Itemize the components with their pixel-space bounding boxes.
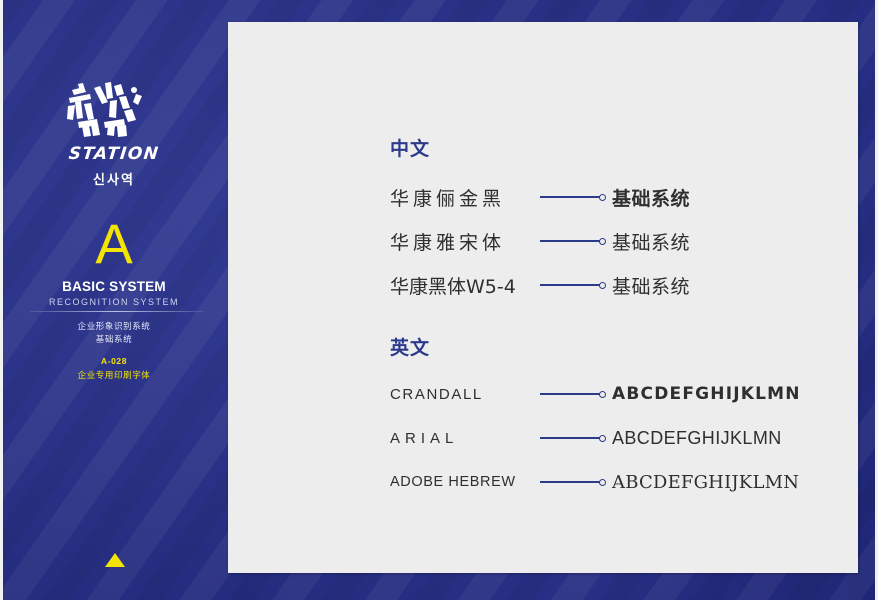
font-name-label: 华康俪金黑 <box>390 184 538 211</box>
line-with-circle-endpoint-icon <box>540 282 606 289</box>
brand-logo-block: STATION 신사역 <box>0 78 228 188</box>
line-with-circle-endpoint-icon <box>540 435 606 442</box>
connector-line <box>540 284 600 286</box>
font-specimen-list: 中文 华康俪金黑 基础系统 华康雅宋体 基础系统 华康黑体W5-4 <box>390 134 850 504</box>
line-with-circle-endpoint-icon <box>540 479 606 486</box>
content-panel: 中文 华康俪金黑 基础系统 华康雅宋体 基础系统 华康黑体W5-4 <box>228 22 858 573</box>
line-with-circle-endpoint-icon <box>540 391 606 398</box>
font-name-label: 华康雅宋体 <box>390 228 538 255</box>
connector-line <box>540 481 600 483</box>
font-sample-text: 基础系统 <box>612 184 850 211</box>
font-row: CRANDALL ABCDEFGHIJKLMN <box>390 372 850 416</box>
font-name-label: ADOBE HEBREW <box>390 474 538 490</box>
page-edge-left <box>0 0 3 600</box>
font-name-label: ARIAL <box>390 430 538 447</box>
logo-korean-text: 신사역 <box>0 169 228 188</box>
connector-line <box>540 437 600 439</box>
triangle-up-icon <box>105 553 125 567</box>
connector-line <box>540 196 600 198</box>
font-row: ADOBE HEBREW ABCDEFGHIJKLMN <box>390 460 850 504</box>
sidebar: STATION 신사역 A BASIC SYSTEM RECOGNITION S… <box>0 0 228 600</box>
section-letter: A <box>0 216 228 272</box>
section-subtitle: RECOGNITION SYSTEM <box>0 297 228 307</box>
font-sample-text: ABCDEFGHIJKLMN <box>612 428 850 449</box>
line-with-circle-endpoint-icon <box>540 194 606 201</box>
sidebar-chinese-line-2: 基础系统 <box>0 333 228 345</box>
sinsa-station-calligraphy-logo-icon <box>64 78 164 140</box>
sidebar-page-code-caption: 企业专用印刷字体 <box>0 369 228 381</box>
section-heading-english: 英文 <box>390 333 850 360</box>
section-title: BASIC SYSTEM <box>0 279 228 294</box>
font-sample-text: ABCDEFGHIJKLMN <box>612 384 850 404</box>
font-sample-text: ABCDEFGHIJKLMN <box>612 472 850 493</box>
font-row: ARIAL ABCDEFGHIJKLMN <box>390 416 850 460</box>
font-sample-text: 基础系统 <box>612 272 850 299</box>
poster-page: STATION 신사역 A BASIC SYSTEM RECOGNITION S… <box>0 0 878 600</box>
connector-dot <box>599 238 606 245</box>
connector-dot <box>599 282 606 289</box>
font-name-label: CRANDALL <box>390 386 538 403</box>
logo-station-text: STATION <box>0 144 229 164</box>
connector-dot <box>599 479 606 486</box>
section-heading-chinese: 中文 <box>390 134 850 161</box>
font-row: 华康俪金黑 基础系统 <box>390 175 850 219</box>
sidebar-divider <box>30 311 203 312</box>
connector-dot <box>599 391 606 398</box>
sidebar-chinese-line-1: 企业形象识别系统 <box>0 320 228 332</box>
sidebar-page-code: A-028 <box>0 356 228 366</box>
line-with-circle-endpoint-icon <box>540 238 606 245</box>
font-row: 华康雅宋体 基础系统 <box>390 219 850 263</box>
connector-dot <box>599 194 606 201</box>
font-row: 华康黑体W5-4 基础系统 <box>390 263 850 307</box>
connector-dot <box>599 435 606 442</box>
font-sample-text: 基础系统 <box>612 228 850 255</box>
font-name-label: 华康黑体W5-4 <box>390 272 538 299</box>
connector-line <box>540 393 600 395</box>
connector-line <box>540 240 600 242</box>
